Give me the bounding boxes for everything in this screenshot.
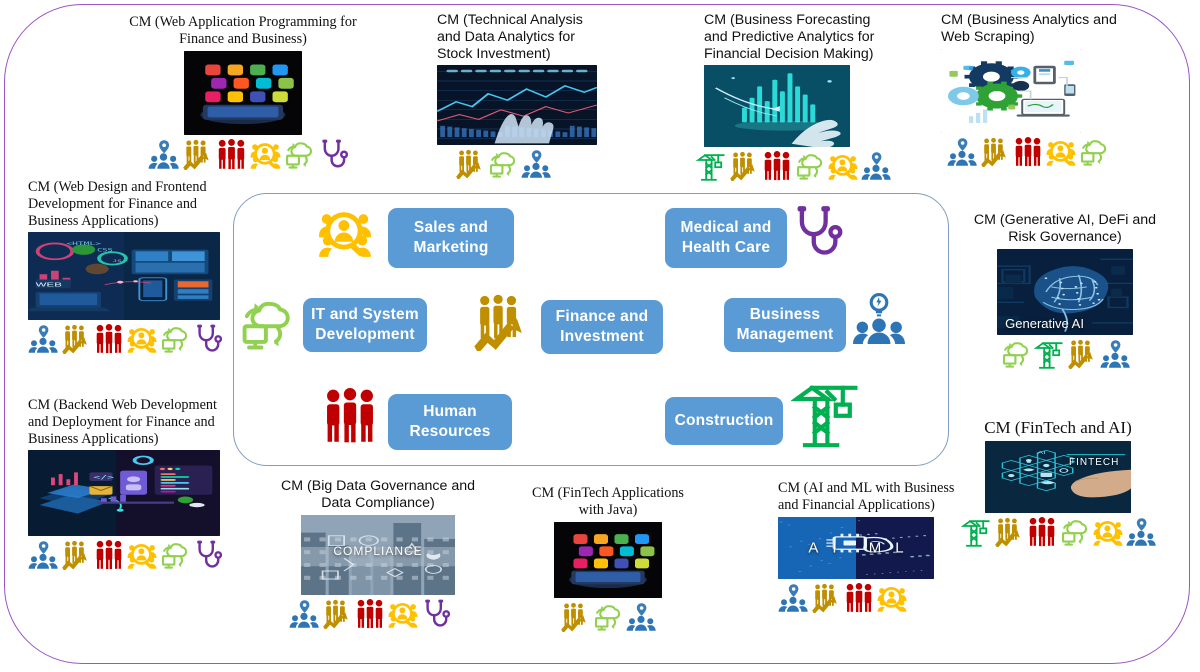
module-thumbnail: </> [28, 450, 220, 536]
three-people-icon [94, 324, 124, 354]
course-module-technical-analysis: CM (Technical Analysis and Data Analytic… [437, 12, 609, 179]
domain-icon-construction [791, 378, 861, 448]
domain-icon-medical-and-health-care [790, 205, 844, 259]
business-people-icon [861, 151, 891, 181]
module-thumbnail: COMPLIANCE [301, 515, 455, 595]
svg-text:CSS: CSS [97, 248, 113, 253]
module-thumbnail [704, 65, 850, 147]
domain-chip-sales-and-marketing[interactable]: Sales andMarketing [388, 208, 514, 268]
course-module-backend-web-development: CM (Backend Web Development and Deployme… [28, 397, 226, 570]
domain-icon-sales-and-marketing [318, 205, 372, 259]
crane-icon [791, 378, 861, 448]
domain-chip-label: Construction [675, 411, 774, 431]
domain-chip-label: Finance andInvestment [556, 307, 649, 347]
course-module-domain-icons [28, 540, 226, 570]
cloud-monitor-icon [239, 296, 295, 352]
business-people-icon [289, 599, 319, 629]
growth-arrow-people-icon [322, 599, 352, 629]
course-module-title: CM (Backend Web Development and Deployme… [28, 397, 226, 447]
course-module-domain-icons [128, 139, 368, 170]
thumb-caption: FINTECH [1069, 457, 1119, 468]
growth-arrow-people-icon [980, 137, 1010, 167]
cloud-monitor-icon [593, 602, 623, 632]
business-people-icon [148, 139, 179, 170]
module-thumbnail [941, 49, 1081, 133]
cloud-monitor-icon [1001, 339, 1031, 369]
sales-magnifier-icon [1046, 137, 1076, 167]
growth-arrow-people-icon [729, 151, 759, 181]
course-module-generative-ai-defi: CM (Generative AI, DeFi and Risk Governa… [972, 212, 1158, 369]
business-people-icon [28, 324, 58, 354]
crane-icon [696, 151, 726, 181]
business-people-icon [1126, 517, 1156, 547]
growth-arrow-people-icon [472, 293, 530, 351]
course-module-domain-icons [947, 137, 1127, 167]
course-module-domain-icons [28, 324, 226, 354]
growth-arrow-people-icon [61, 540, 91, 570]
course-module-title: CM (Business Forecasting and Predictive … [704, 12, 886, 62]
module-thumbnail [437, 65, 597, 145]
domain-chip-human-resources[interactable]: HumanResources [388, 394, 512, 450]
domain-chip-construction[interactable]: Construction [665, 397, 783, 445]
domain-chip-it-and-system-development[interactable]: IT and SystemDevelopment [303, 298, 427, 352]
course-module-domain-icons [696, 151, 886, 181]
course-module-domain-icons [455, 149, 609, 179]
course-module-business-forecasting: CM (Business Forecasting and Predictive … [704, 12, 886, 181]
three-people-icon [1013, 137, 1043, 167]
sales-magnifier-icon [877, 583, 907, 613]
domain-chip-finance-and-investment[interactable]: Finance andInvestment [541, 300, 663, 354]
growth-arrow-people-icon [1067, 339, 1097, 369]
course-module-title: CM (Generative AI, DeFi and Risk Governa… [972, 212, 1158, 246]
stethoscope-icon [790, 205, 844, 259]
course-module-fintech-and-ai: CM (FinTech and AI)AIFINTECH [958, 418, 1158, 547]
svg-text:</>: </> [93, 475, 114, 481]
course-module-ai-and-ml: CM (AI and ML with Business and Financia… [778, 480, 958, 613]
svg-text:JS: JS [112, 259, 122, 263]
stethoscope-icon [193, 324, 223, 354]
sales-magnifier-icon [828, 151, 858, 181]
diagram-canvas: Sales andMarketingMedical andHealth Care… [0, 0, 1200, 672]
domain-chip-business-management[interactable]: BusinessManagement [724, 298, 846, 352]
growth-arrow-people-icon [994, 517, 1024, 547]
sales-magnifier-icon [127, 324, 157, 354]
three-people-icon [355, 599, 385, 629]
domain-chip-label: IT and SystemDevelopment [311, 305, 419, 345]
sales-magnifier-icon [388, 599, 418, 629]
sales-magnifier-icon [1093, 517, 1123, 547]
business-people-icon [28, 540, 58, 570]
course-module-title: CM (FinTech and AI) [958, 418, 1158, 438]
svg-text:AI: AI [1038, 451, 1046, 455]
three-people-icon [1027, 517, 1057, 547]
svg-text:WEB: WEB [36, 282, 62, 288]
growth-arrow-people-icon [455, 149, 485, 179]
module-thumbnail: <HTML>CSSJSWEB [28, 232, 220, 320]
cloud-monitor-icon [160, 540, 190, 570]
course-module-web-design-frontend: CM (Web Design and Frontend Development … [28, 179, 226, 354]
stethoscope-icon [318, 139, 349, 170]
course-module-thumbnail-wrap: <HTML>CSSJSWEB [28, 232, 226, 320]
three-people-icon [216, 139, 247, 170]
domain-chip-label: Sales andMarketing [413, 218, 488, 258]
crane-icon [961, 517, 991, 547]
course-module-title: CM (Business Analytics and Web Scraping) [941, 12, 1127, 46]
sales-magnifier-icon [250, 139, 281, 170]
course-module-title: CM (Web Application Programming for Fina… [118, 14, 368, 48]
business-people-icon [778, 583, 808, 613]
cloud-monitor-icon [160, 324, 190, 354]
crane-icon [1034, 339, 1064, 369]
module-thumbnail [554, 522, 662, 598]
domain-chip-label: Medical andHealth Care [681, 218, 772, 258]
module-thumbnail: AI ML [778, 517, 934, 579]
course-module-title: CM (Web Design and Frontend Development … [28, 179, 226, 229]
thumb-caption: COMPLIANCE [333, 544, 422, 558]
growth-arrow-people-icon [560, 602, 590, 632]
course-module-thumbnail-wrap: AI ML [778, 517, 958, 579]
course-module-thumbnail-wrap [437, 65, 609, 145]
domain-chip-label: HumanResources [409, 402, 490, 442]
business-people-icon [521, 149, 551, 179]
thumb-caption: AI ML [794, 539, 917, 556]
course-module-thumbnail-wrap [704, 65, 886, 147]
business-people-icon [947, 137, 977, 167]
course-module-fintech-applications-java: CM (FinTech Applications with Java) [518, 485, 698, 632]
growth-arrow-people-icon [182, 139, 213, 170]
three-people-icon [844, 583, 874, 613]
course-module-thumbnail-wrap [941, 49, 1127, 133]
people-lightbulb-icon [853, 293, 905, 345]
cloud-monitor-icon [795, 151, 825, 181]
course-module-big-data-governance: CM (Big Data Governance and Data Complia… [278, 478, 478, 629]
course-module-title: CM (Technical Analysis and Data Analytic… [437, 12, 609, 62]
module-thumbnail: Generative AI [997, 249, 1133, 335]
sales-magnifier-icon [127, 540, 157, 570]
three-people-icon [762, 151, 792, 181]
course-module-thumbnail-wrap: AIFINTECH [958, 441, 1158, 513]
business-people-icon [1100, 339, 1130, 369]
course-module-domain-icons [972, 339, 1158, 369]
course-module-domain-icons [518, 602, 698, 632]
stethoscope-icon [421, 599, 451, 629]
domain-icon-it-and-system-development [239, 296, 295, 352]
course-module-thumbnail-wrap: COMPLIANCE [278, 515, 478, 595]
growth-arrow-people-icon [61, 324, 91, 354]
cloud-monitor-icon [284, 139, 315, 170]
growth-arrow-people-icon [811, 583, 841, 613]
domain-icon-finance-and-investment [472, 293, 530, 351]
course-module-thumbnail-wrap: Generative AI [972, 249, 1158, 335]
course-module-domain-icons [262, 599, 478, 629]
course-module-title: CM (AI and ML with Business and Financia… [778, 480, 958, 514]
domain-chip-label: BusinessManagement [737, 305, 834, 345]
domain-icon-business-management [853, 293, 905, 345]
course-module-thumbnail-wrap: </> [28, 450, 226, 536]
sales-magnifier-icon [318, 205, 372, 259]
business-people-icon [626, 602, 656, 632]
cloud-monitor-icon [488, 149, 518, 179]
course-module-business-analytics-web-scraping: CM (Business Analytics and Web Scraping) [941, 12, 1127, 167]
course-module-thumbnail-wrap [518, 522, 698, 598]
course-module-title: CM (Big Data Governance and Data Complia… [278, 478, 478, 512]
course-module-thumbnail-wrap [118, 51, 368, 135]
three-people-icon [322, 388, 378, 444]
course-module-title: CM (FinTech Applications with Java) [518, 485, 698, 519]
stethoscope-icon [193, 540, 223, 570]
course-module-domain-icons [958, 517, 1158, 547]
thumb-caption: Generative AI [1005, 316, 1084, 331]
cloud-monitor-icon [1079, 137, 1109, 167]
module-thumbnail [184, 51, 302, 135]
module-thumbnail: AIFINTECH [985, 441, 1131, 513]
domain-chip-medical-and-health-care[interactable]: Medical andHealth Care [665, 208, 787, 268]
three-people-icon [94, 540, 124, 570]
course-module-domain-icons [778, 583, 958, 613]
course-module-web-application-programming: CM (Web Application Programming for Fina… [118, 14, 368, 170]
svg-text:<HTML>: <HTML> [66, 241, 101, 246]
cloud-monitor-icon [1060, 517, 1090, 547]
domain-icon-human-resources [322, 388, 378, 444]
